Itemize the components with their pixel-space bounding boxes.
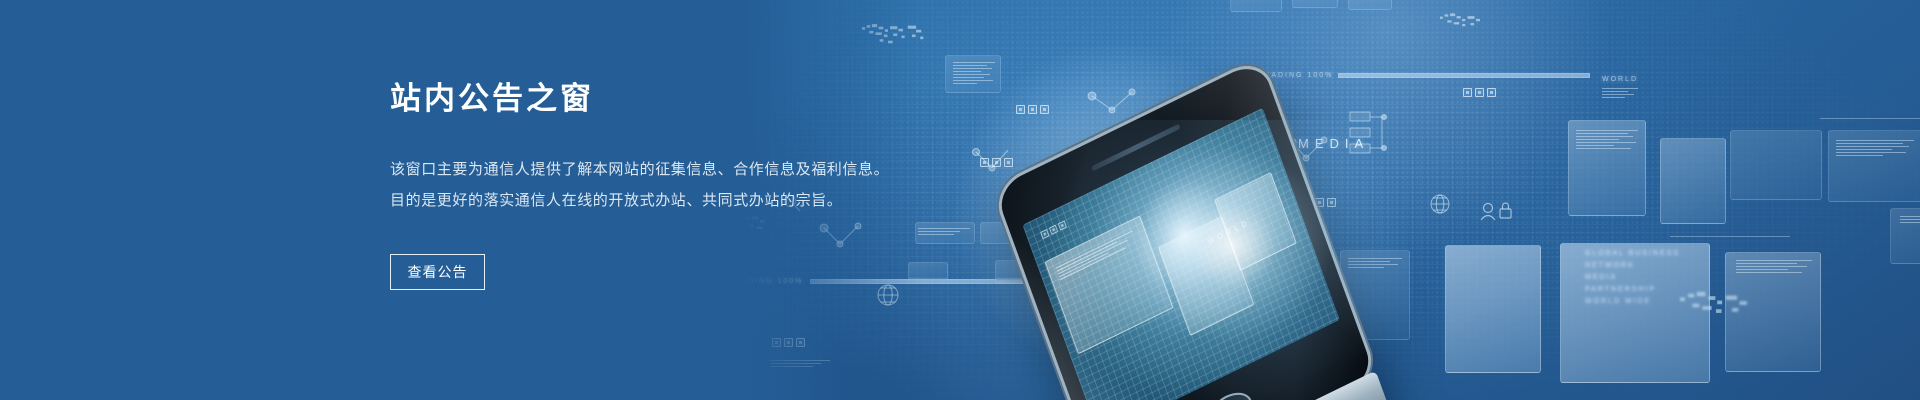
floating-panel bbox=[1660, 138, 1726, 224]
user-icon bbox=[1481, 203, 1511, 220]
phone-home-button bbox=[1206, 386, 1257, 400]
globe-icon bbox=[1431, 195, 1449, 213]
trace-line bbox=[1820, 118, 1920, 119]
floating-panel bbox=[1230, 0, 1282, 12]
phone-screen: WORLD bbox=[1022, 108, 1339, 400]
floating-panel bbox=[1292, 0, 1338, 8]
square-button-cluster bbox=[1463, 88, 1496, 97]
micro-text-block bbox=[1348, 258, 1402, 270]
description-line-1: 该窗口主要为通信人提供了解本网站的征集信息、合作信息及福利信息。 bbox=[390, 154, 889, 185]
micro-text-block bbox=[1900, 216, 1920, 225]
label-loading-top: LOADING 100% bbox=[1258, 72, 1333, 79]
micro-text-block bbox=[1836, 140, 1914, 158]
label-media-mid: MEDIA bbox=[1298, 136, 1369, 151]
banner-description: 该窗口主要为通信人提供了解本网站的征集信息、合作信息及福利信息。 目的是更好的落… bbox=[390, 154, 889, 216]
page-title: 站内公告之窗 bbox=[390, 80, 594, 117]
floating-panel bbox=[1348, 0, 1392, 10]
floating-panel bbox=[1730, 130, 1822, 200]
world-map-icon bbox=[1440, 13, 1480, 26]
floating-panel bbox=[1560, 243, 1710, 383]
banner-content: 站内公告之窗 该窗口主要为通信人提供了解本网站的征集信息、合作信息及福利信息。 … bbox=[390, 0, 1030, 400]
floating-panel bbox=[1445, 245, 1541, 373]
loading-progress-bar-top bbox=[1338, 73, 1590, 78]
trace-line bbox=[1670, 236, 1790, 237]
view-announcement-button[interactable]: 查看公告 bbox=[390, 254, 485, 290]
description-line-2: 目的是更好的落实通信人在线的开放式办站、共同式办站的宗旨。 bbox=[390, 185, 889, 216]
micro-text-block bbox=[1736, 260, 1812, 275]
announcement-banner: MEDIA BUSINESS MEDIA NETWORK SEARCH WORL… bbox=[0, 0, 1920, 400]
label-world-small-top: WORLD bbox=[1602, 76, 1638, 83]
micro-text-block bbox=[1602, 88, 1638, 100]
micro-text-block bbox=[1576, 130, 1638, 151]
